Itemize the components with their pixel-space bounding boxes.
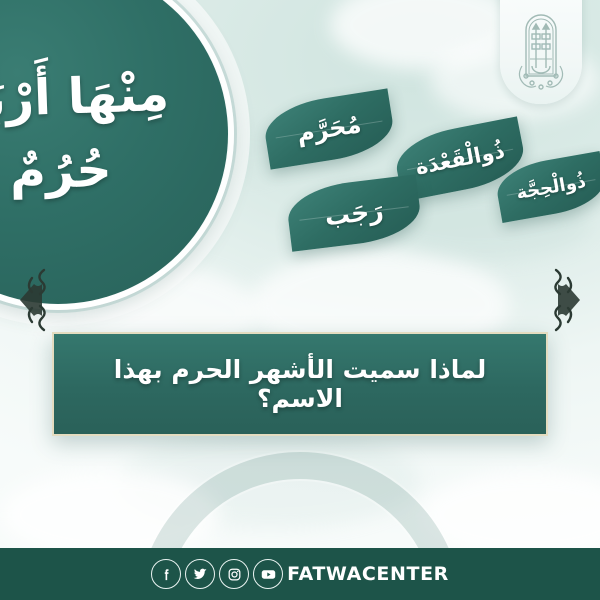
hero-line-1: مِنْهَا أَرْبَعَةٌ xyxy=(0,69,169,126)
footer-bar: FATWACENTER xyxy=(0,548,600,600)
facebook-icon[interactable] xyxy=(151,559,181,589)
twitter-icon[interactable] xyxy=(185,559,215,589)
arabesque-ornament-left-icon xyxy=(18,254,58,346)
twitter-glyph xyxy=(192,566,208,582)
question-text: لماذا سميت الأشهر الحرم بهذا الاسم؟ xyxy=(54,355,546,413)
question-banner: لماذا سميت الأشهر الحرم بهذا الاسم؟ xyxy=(52,332,548,436)
footer-handle: FATWACENTER xyxy=(287,563,449,585)
facebook-glyph xyxy=(159,567,174,582)
instagram-icon[interactable] xyxy=(219,559,249,589)
leaf-rajab: رَجَب xyxy=(285,174,424,252)
hero-line-2: حُرُمٌ xyxy=(10,145,113,196)
mosque-minaret-crest-icon xyxy=(512,4,570,96)
leaf-muharram: مُحَرَّم xyxy=(261,88,397,169)
arabesque-ornament-right-icon xyxy=(542,254,582,346)
youtube-icon[interactable] xyxy=(253,559,283,589)
crest-badge xyxy=(500,0,582,104)
youtube-glyph xyxy=(260,566,277,583)
instagram-glyph xyxy=(227,567,242,582)
poster-canvas: الحـرم و رجـب و ذو القعـدة و ذو الحجـة و… xyxy=(0,0,600,600)
